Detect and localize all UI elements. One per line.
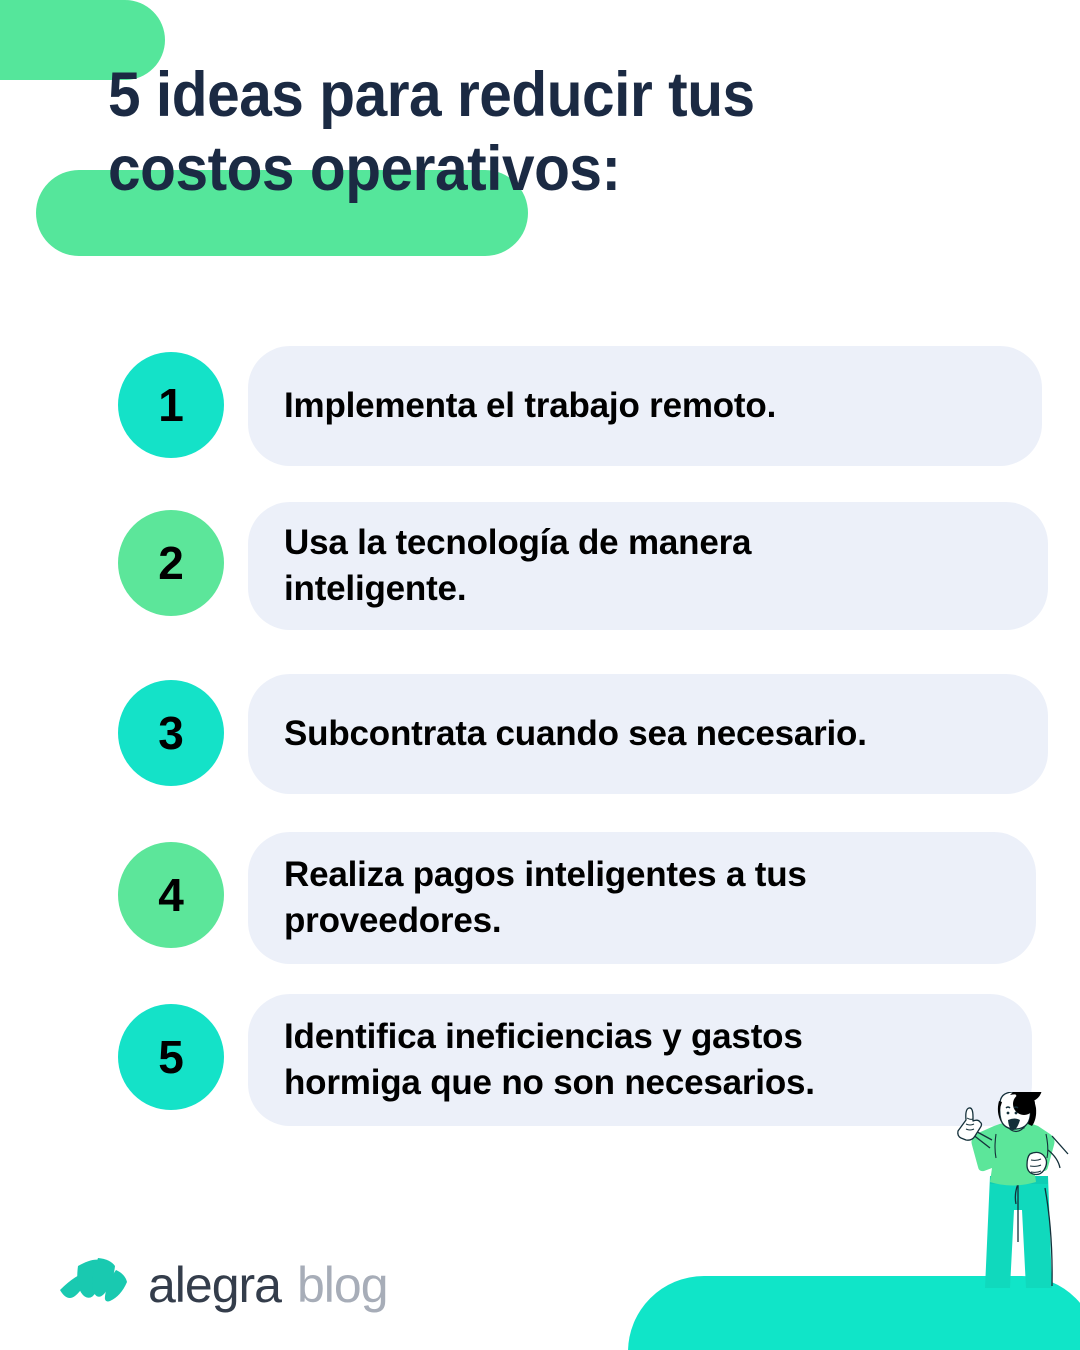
list-item-text: Implementa el trabajo remoto.	[284, 383, 776, 429]
list-item-card: Realiza pagos inteligentes a tus proveed…	[248, 832, 1036, 964]
list-item-number: 1	[158, 378, 184, 432]
tips-list: 1 Implementa el trabajo remoto. 2 Usa la…	[0, 0, 1080, 1350]
list-item-number: 2	[158, 536, 184, 590]
list-item-text: Realiza pagos inteligentes a tus proveed…	[284, 852, 807, 944]
list-item-number: 5	[158, 1030, 184, 1084]
list-item-card: Subcontrata cuando sea necesario.	[248, 674, 1048, 794]
list-item-card: Usa la tecnología de manera inteligente.	[248, 502, 1048, 630]
list-item-card: Identifica ineficiencias y gastos hormig…	[248, 994, 1032, 1126]
list-item-number-badge: 2	[118, 510, 224, 616]
list-item-number: 4	[158, 868, 184, 922]
infographic-canvas: 5 ideas para reducir tus costos operativ…	[0, 0, 1080, 1350]
logo-suffix-text: blog	[297, 1256, 388, 1314]
list-item-text: Usa la tecnología de manera inteligente.	[284, 520, 751, 612]
woman-pointing-up-illustration	[952, 1092, 1080, 1322]
alegra-leaf-icon	[58, 1256, 130, 1314]
alegra-blog-logo[interactable]: alegra blog	[58, 1256, 388, 1314]
list-item-number-badge: 4	[118, 842, 224, 948]
list-item-text: Subcontrata cuando sea necesario.	[284, 711, 867, 757]
list-item-number-badge: 5	[118, 1004, 224, 1110]
list-item-number: 3	[158, 706, 184, 760]
list-item-text: Identifica ineficiencias y gastos hormig…	[284, 1014, 815, 1106]
list-item-number-badge: 1	[118, 352, 224, 458]
list-item-card: Implementa el trabajo remoto.	[248, 346, 1042, 466]
logo-brand-text: alegra	[148, 1256, 281, 1314]
list-item-number-badge: 3	[118, 680, 224, 786]
